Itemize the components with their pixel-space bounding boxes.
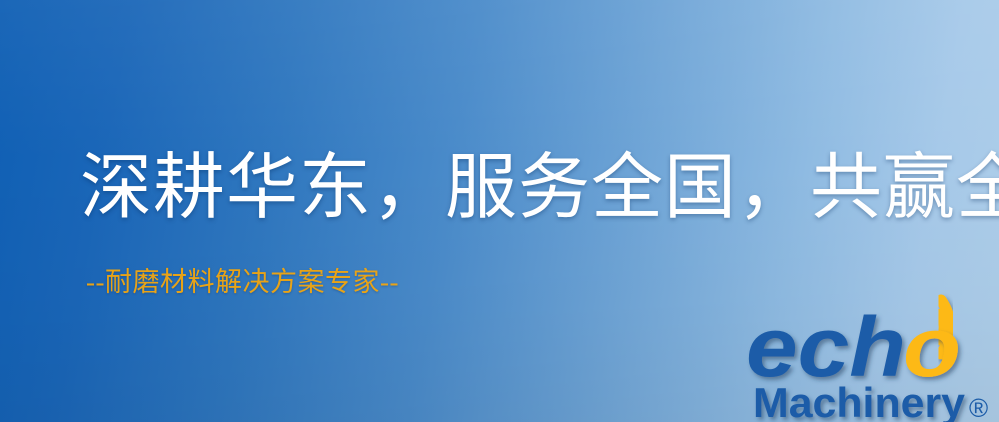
banner-subtitle: --耐磨材料解决方案专家-- <box>86 266 399 298</box>
logo-tagline: Machinery <box>753 379 966 422</box>
logo-svg: ech o Machinery ® <box>745 292 999 422</box>
registered-trademark-icon: ® <box>969 393 988 422</box>
hero-banner: 深耕华东，服务全国，共赢全球 --耐磨材料解决方案专家-- ech o Mach… <box>0 0 999 422</box>
banner-headline: 深耕华东，服务全国，共赢全球 <box>80 147 950 229</box>
echo-machinery-logo: ech o Machinery ® <box>745 292 999 422</box>
